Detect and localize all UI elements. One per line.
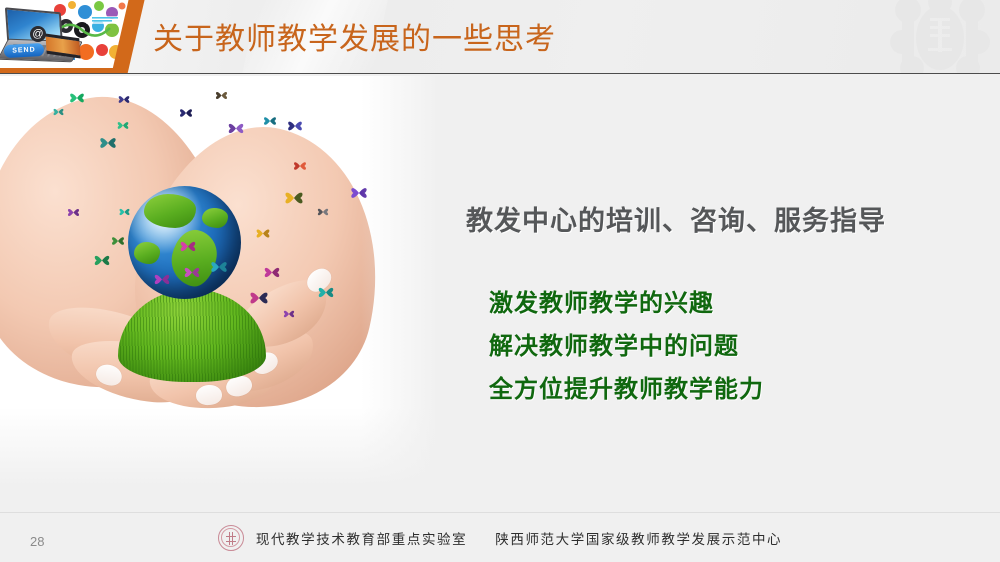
butterfly bbox=[246, 288, 272, 308]
continent bbox=[134, 242, 160, 264]
butterfly bbox=[68, 90, 86, 106]
bullet-list: 激发教师教学的兴趣 解决教师教学中的问题 全方位提升教师教学能力 bbox=[489, 282, 764, 411]
slide-footer: 现代教学技术教育部重点实验室 陕西师范大学国家级教师教学发展示范中心 bbox=[0, 513, 1000, 562]
butterfly bbox=[292, 159, 308, 173]
butterfly bbox=[226, 120, 246, 137]
university-seal-icon bbox=[218, 525, 244, 551]
butterfly bbox=[110, 234, 126, 248]
list-item: 解决教师教学中的问题 bbox=[489, 325, 764, 368]
continent bbox=[202, 208, 228, 228]
butterfly bbox=[182, 264, 202, 281]
butterfly bbox=[208, 258, 230, 276]
butterfly bbox=[316, 206, 330, 218]
send-badge: SEND bbox=[4, 43, 45, 58]
butterfly bbox=[178, 106, 194, 120]
butterfly bbox=[152, 271, 172, 288]
footer-lab: 现代教学技术教育部重点实验室 bbox=[218, 525, 467, 551]
university-seal-watermark-icon bbox=[888, 0, 992, 74]
list-item: 激发教师教学的兴趣 bbox=[489, 282, 764, 325]
butterfly bbox=[280, 188, 308, 208]
butterfly bbox=[254, 226, 272, 241]
header-bottom-rule bbox=[0, 73, 1000, 74]
footer-lab-label: 现代教学技术教育部重点实验室 bbox=[256, 528, 467, 548]
presentation-slide: @ SEND 关于教师教学发展的一些思考 bbox=[0, 0, 1000, 562]
footer-center-label: 陕西师范大学国家级教师教学发展示范中心 bbox=[495, 528, 782, 548]
butterfly bbox=[282, 308, 296, 320]
continent bbox=[144, 194, 196, 228]
butterfly bbox=[96, 134, 120, 152]
butterfly bbox=[52, 106, 65, 118]
butterfly bbox=[178, 238, 198, 255]
at-symbol-icon: @ bbox=[30, 26, 46, 42]
laptop-multimedia-icon: @ SEND bbox=[0, 0, 128, 70]
butterfly bbox=[118, 206, 131, 218]
content-heading: 教发中心的培训、咨询、服务指导 bbox=[466, 199, 886, 238]
butterfly bbox=[214, 89, 229, 102]
butterfly bbox=[66, 206, 81, 219]
hands-holding-globe-grass-butterflies-image bbox=[0, 76, 450, 496]
butterfly bbox=[316, 284, 336, 301]
butterfly bbox=[92, 252, 112, 269]
butterfly bbox=[117, 93, 131, 106]
page-title: 关于教师教学发展的一些思考 bbox=[153, 14, 556, 58]
list-item: 全方位提升教师教学能力 bbox=[489, 368, 764, 411]
butterfly bbox=[262, 264, 282, 281]
butterfly bbox=[286, 118, 304, 134]
hero-fade-bottom bbox=[0, 407, 450, 497]
slide-header: @ SEND 关于教师教学发展的一些思考 bbox=[0, 0, 1000, 74]
butterfly bbox=[262, 114, 278, 128]
butterfly bbox=[116, 119, 130, 132]
